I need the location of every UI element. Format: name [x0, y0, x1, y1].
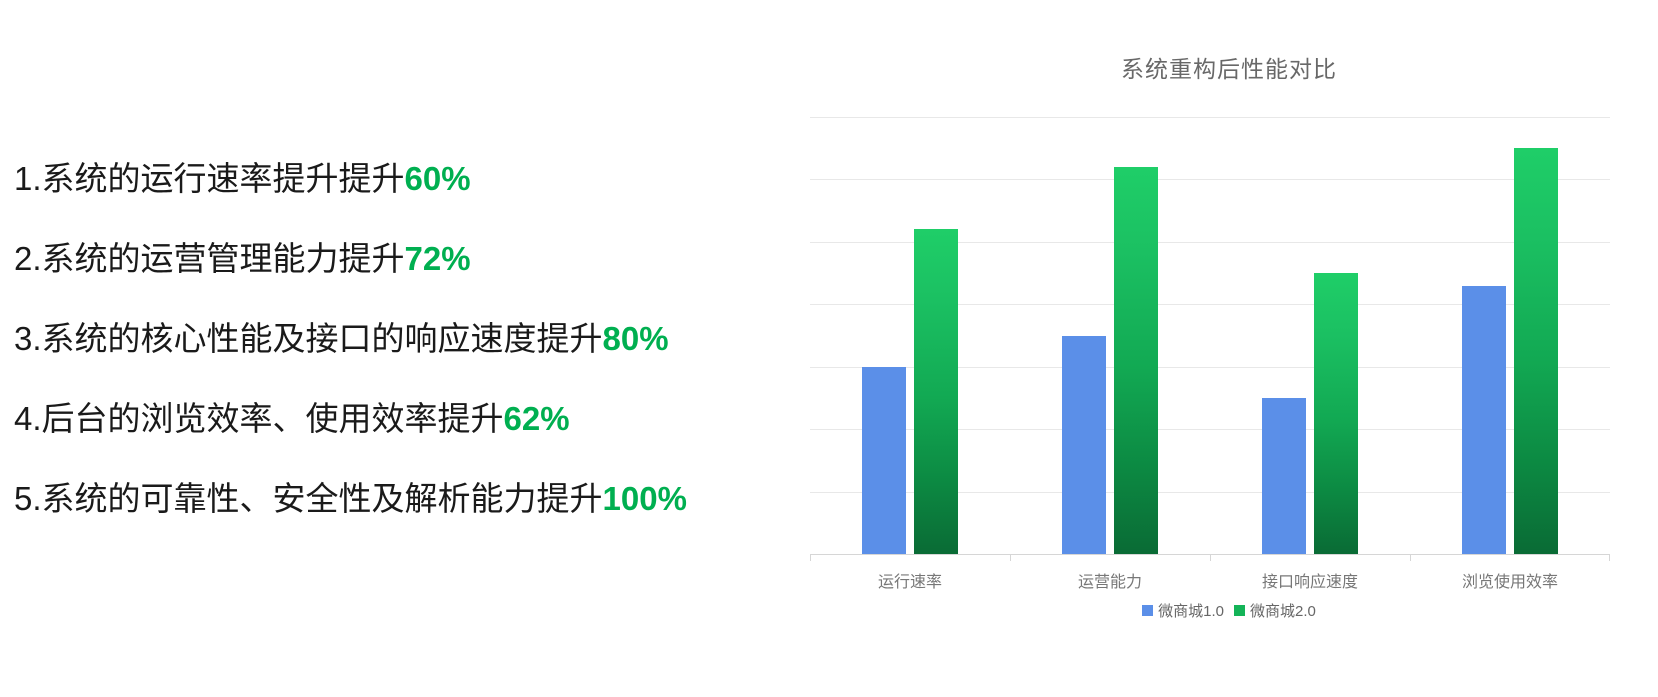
achievement-list: 1.系统的运行速率提升提升60% 2.系统的运营管理能力提升72% 3.系统的核… [14, 160, 784, 518]
list-item-text: 系统的可靠性、安全性及解析能力提升 [42, 480, 603, 517]
list-item-percent: 60% [405, 160, 471, 197]
list-item-percent: 100% [603, 480, 687, 517]
chart-plot-area [810, 118, 1610, 555]
chart-title: 系统重构后性能对比 [800, 50, 1658, 84]
list-item-text: 系统的核心性能及接口的响应速度提升 [42, 320, 603, 357]
legend-entry-series-2: 微商城2.0 [1234, 600, 1316, 621]
chart-category-label: 运行速率 [878, 568, 942, 592]
list-item-text: 系统的运营管理能力提升 [42, 240, 405, 277]
list-item-index: 4. [14, 400, 42, 437]
list-item-index: 3. [14, 320, 42, 357]
chart-legend: 微商城1.0 微商城2.0 [800, 600, 1658, 621]
list-item: 4.后台的浏览效率、使用效率提升62% [14, 400, 784, 438]
list-item: 3.系统的核心性能及接口的响应速度提升80% [14, 320, 784, 358]
list-item-text: 后台的浏览效率、使用效率提升 [42, 400, 504, 437]
chart-bar-series-2 [1314, 273, 1358, 554]
chart-category-label: 运营能力 [1078, 568, 1142, 592]
chart-pane: 系统重构后性能对比 运行速率运营能力接口响应速度浏览使用效率 微商城1.0 微商… [800, 0, 1658, 697]
chart-bar-series-1 [1062, 336, 1106, 555]
chart-category-label: 接口响应速度 [1262, 568, 1358, 592]
list-item-percent: 80% [603, 320, 669, 357]
list-item-percent: 62% [504, 400, 570, 437]
legend-entry-series-1: 微商城1.0 [1142, 600, 1224, 621]
list-item: 5.系统的可靠性、安全性及解析能力提升100% [14, 480, 784, 518]
legend-label: 微商城2.0 [1250, 600, 1316, 621]
list-item-index: 5. [14, 480, 42, 517]
chart-bar-series-2 [1514, 148, 1558, 554]
bullet-pane: 1.系统的运行速率提升提升60% 2.系统的运营管理能力提升72% 3.系统的核… [0, 0, 800, 697]
legend-swatch-icon [1142, 605, 1153, 616]
list-item-index: 2. [14, 240, 42, 277]
list-item-percent: 72% [405, 240, 471, 277]
chart-bars [810, 118, 1610, 554]
list-item: 2.系统的运营管理能力提升72% [14, 240, 784, 278]
list-item: 1.系统的运行速率提升提升60% [14, 160, 784, 198]
chart-bar-series-1 [862, 367, 906, 554]
slide: 1.系统的运行速率提升提升60% 2.系统的运营管理能力提升72% 3.系统的核… [0, 0, 1658, 697]
chart-bar-series-2 [914, 229, 958, 554]
chart-bar-series-2 [1114, 167, 1158, 554]
chart-bar-series-1 [1262, 398, 1306, 554]
legend-label: 微商城1.0 [1158, 600, 1224, 621]
chart-category-labels: 运行速率运营能力接口响应速度浏览使用效率 [810, 560, 1610, 590]
chart-bar-series-1 [1462, 286, 1506, 554]
chart-category-label: 浏览使用效率 [1462, 568, 1558, 592]
list-item-index: 1. [14, 160, 42, 197]
legend-swatch-icon [1234, 605, 1245, 616]
list-item-text: 系统的运行速率提升提升 [42, 160, 405, 197]
